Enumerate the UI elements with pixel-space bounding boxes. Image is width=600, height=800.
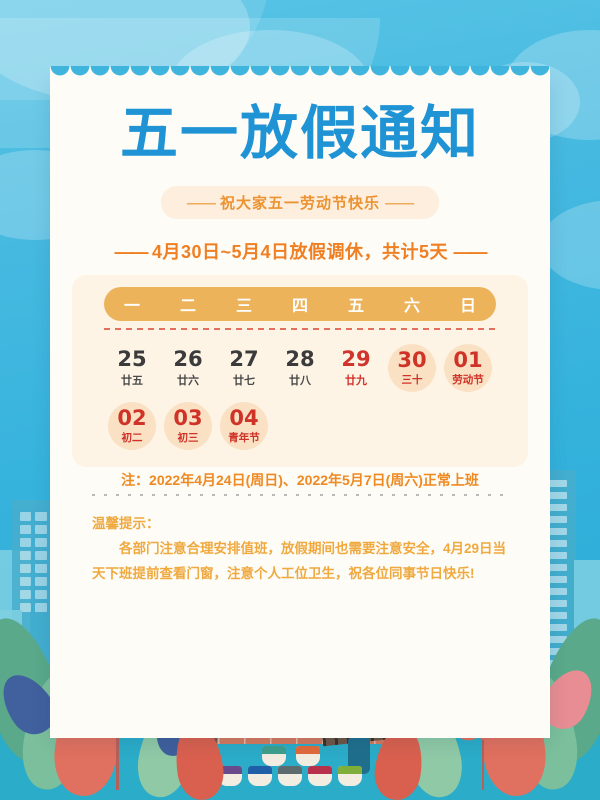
paint-bucket — [296, 746, 320, 766]
paint-bucket — [262, 746, 286, 766]
date-lunar: 三十 — [402, 372, 423, 387]
date-lunar: 青年节 — [228, 430, 260, 445]
paint-bucket — [308, 766, 332, 786]
bucket-rim — [308, 766, 332, 774]
subtitle-text: 祝大家五一劳动节快乐 — [220, 195, 380, 212]
weekday-sun: 日 — [440, 292, 496, 316]
dateline-text: 4月30日~5月4日放假调休，共计5天 — [152, 242, 448, 262]
calendar-cell-holiday[interactable]: 02 初二 — [104, 398, 160, 454]
reminder-body: 各部门注意合理安排值班，放假期间也需要注意安全，4月29日当天下班提前查看门窗，… — [92, 537, 512, 587]
bucket-rim — [338, 766, 362, 774]
window — [35, 538, 46, 547]
weekday-tue: 二 — [160, 292, 216, 316]
window — [35, 525, 46, 534]
date-lunar: 廿五 — [121, 372, 143, 388]
reminder-heading: 温馨提示： — [92, 512, 512, 537]
calendar-cell-holiday[interactable]: 03 初三 — [160, 398, 216, 454]
calendar-cell-empty — [328, 398, 384, 454]
paint-bucket — [248, 766, 272, 786]
weekday-fri: 五 — [328, 292, 384, 316]
date-lunar: 廿七 — [233, 372, 255, 388]
calendar-weekday-header: 一 二 三 四 五 六 日 — [104, 287, 496, 321]
weekday-wed: 三 — [216, 292, 272, 316]
date-number: 01 — [453, 349, 482, 371]
calendar-cell-holiday[interactable]: 04 青年节 — [216, 398, 272, 454]
calendar-row-1: 25 廿五 26 廿六 27 廿七 28 廿八 29 廿九 30 三十 01 劳… — [104, 340, 496, 396]
calendar-cell[interactable]: 25 廿五 — [104, 340, 160, 396]
date-number: 04 — [229, 407, 258, 429]
calendar-cell-empty — [272, 398, 328, 454]
reminder-block: 温馨提示： 各部门注意合理安排值班，放假期间也需要注意安全，4月29日当天下班提… — [92, 512, 512, 587]
calendar-dashed-divider — [104, 328, 496, 330]
calendar-row-2: 02 初二 03 初三 04 青年节 — [104, 398, 496, 454]
date-lunar: 廿六 — [177, 372, 199, 388]
workday-note: 注：2022年4月24日(周日)、2022年5月7日(周六)正常上班 — [0, 470, 600, 490]
window — [20, 538, 31, 547]
date-number: 25 — [117, 348, 146, 370]
date-lunar: 劳动节 — [452, 372, 484, 387]
calendar-cell-empty — [440, 398, 496, 454]
calendar-cell[interactable]: 27 廿七 — [216, 340, 272, 396]
weekday-thu: 四 — [272, 292, 328, 316]
date-number: 28 — [285, 348, 314, 370]
holiday-dateline: —— 4月30日~5月4日放假调休，共计5天 —— — [0, 238, 600, 264]
window — [35, 551, 46, 560]
window — [20, 525, 31, 534]
calendar-cell-empty — [384, 398, 440, 454]
bucket-rim — [296, 746, 320, 754]
date-number: 27 — [229, 348, 258, 370]
dateline-dash-left: —— — [114, 242, 146, 262]
calendar-cell[interactable]: 28 廿八 — [272, 340, 328, 396]
date-number: 03 — [173, 407, 202, 429]
subtitle-badge: —— 祝大家五一劳动节快乐 —— — [161, 186, 439, 219]
date-lunar: 初二 — [122, 430, 143, 445]
calendar-cell[interactable]: 29 廿九 — [328, 340, 384, 396]
dateline-dash-right: —— — [454, 242, 486, 262]
calendar-cell-holiday[interactable]: 01 劳动节 — [440, 340, 496, 396]
date-number: 30 — [397, 349, 426, 371]
bucket-rim — [278, 766, 302, 774]
calendar-cell-holiday[interactable]: 30 三十 — [384, 340, 440, 396]
window — [20, 512, 31, 521]
date-lunar: 初三 — [178, 430, 199, 445]
note-dotted-divider — [92, 494, 508, 496]
date-number: 26 — [173, 348, 202, 370]
card-scalloped-edge — [50, 66, 550, 82]
subtitle-dash-left: —— — [187, 195, 215, 212]
weekday-sat: 六 — [384, 292, 440, 316]
weekday-mon: 一 — [104, 292, 160, 316]
date-number: 29 — [341, 348, 370, 370]
calendar-cell[interactable]: 26 廿六 — [160, 340, 216, 396]
subtitle-row: —— 祝大家五一劳动节快乐 —— — [0, 186, 600, 219]
window — [20, 551, 31, 560]
date-lunar: 廿八 — [289, 372, 311, 388]
page-title: 五一放假通知 — [0, 104, 600, 162]
window — [35, 512, 46, 521]
date-number: 02 — [117, 407, 146, 429]
paint-bucket — [278, 766, 302, 786]
subtitle-dash-right: —— — [385, 195, 413, 212]
paint-bucket — [338, 766, 362, 786]
bucket-rim — [248, 766, 272, 774]
date-lunar: 廿九 — [345, 372, 367, 388]
bucket-rim — [262, 746, 286, 754]
poster-root: 五一劳动节 — [0, 0, 600, 800]
